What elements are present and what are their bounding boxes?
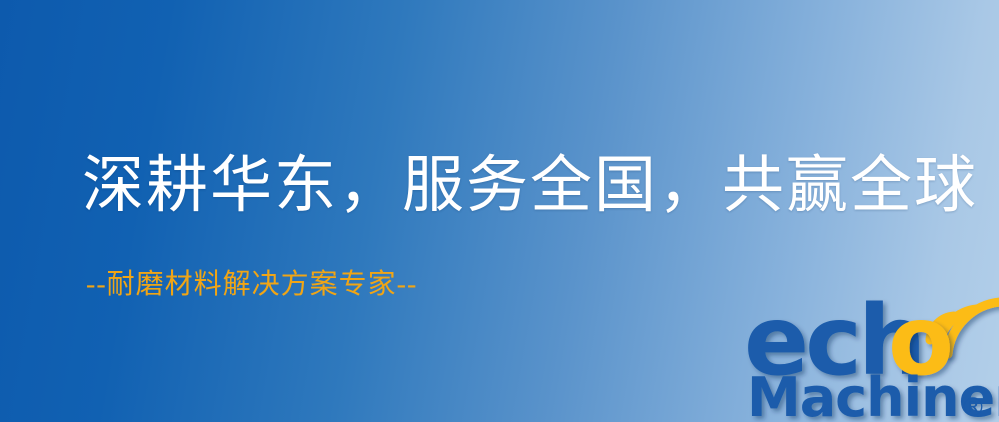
company-logo[interactable]: ech o Machinery ®: [744, 296, 999, 422]
hero-banner: 深耕华东，服务全国，共赢全球 --耐磨材料解决方案专家-- ech o Mach…: [0, 0, 999, 422]
page-subtitle: --耐磨材料解决方案专家--: [86, 268, 417, 302]
page-title: 深耕华东，服务全国，共赢全球: [82, 152, 978, 221]
registered-trademark-icon: ®: [960, 393, 986, 422]
